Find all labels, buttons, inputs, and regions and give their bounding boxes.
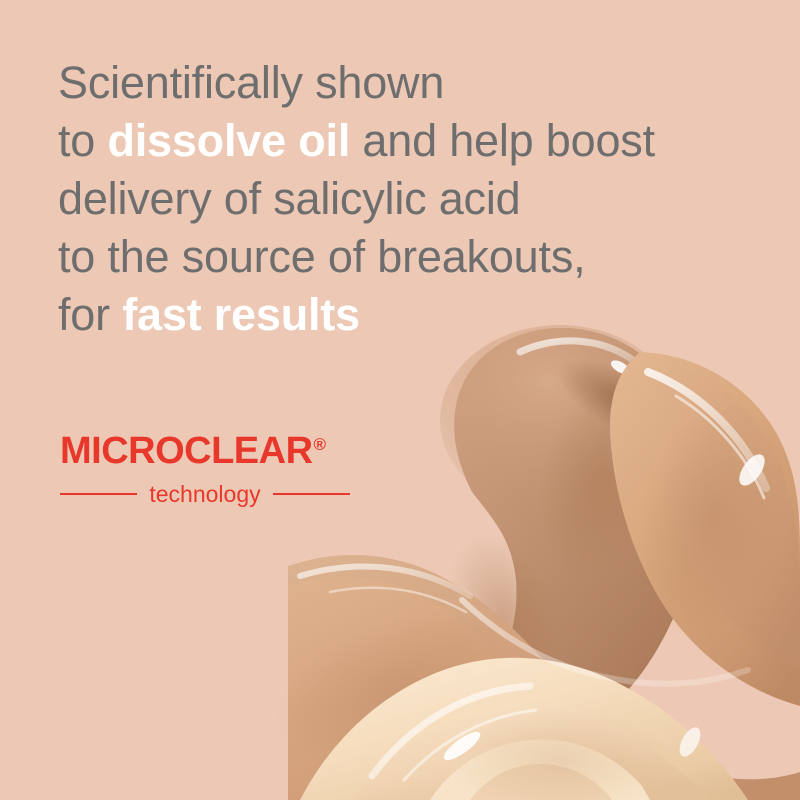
- logo-wordmark: MICROCLEAR®: [60, 424, 350, 472]
- swirl-band-dark: [428, 325, 711, 756]
- headline-text: for: [58, 289, 122, 340]
- logo-tagline-row: technology: [60, 481, 350, 507]
- headline-line-2: to dissolve oil and help boost: [58, 112, 778, 170]
- tagline-rule-right: [273, 493, 350, 495]
- headline-text: and help boost: [350, 115, 655, 166]
- tagline-rule-left: [60, 493, 137, 495]
- registered-trademark-icon: ®: [314, 435, 326, 454]
- headline-text: delivery of salicylic acid: [58, 173, 520, 224]
- headline-block: Scientifically shown to dissolve oil and…: [58, 54, 778, 344]
- headline-line-3: delivery of salicylic acid: [58, 170, 778, 228]
- logo-word-clear: CLEAR: [184, 430, 312, 472]
- headline-line-4: to the source of breakouts,: [58, 228, 778, 286]
- swirl-ridge-connector: [462, 600, 748, 684]
- headline-text: Scientifically shown: [58, 57, 444, 108]
- microclear-logo-lockup: MICROCLEAR® technology: [60, 424, 350, 507]
- headline-line-1: Scientifically shown: [58, 54, 778, 112]
- headline-text: to the source of breakouts,: [58, 231, 585, 282]
- swirl-band-left-arm: [255, 555, 800, 800]
- headline-emphasis-dissolve-oil: dissolve oil: [107, 115, 350, 166]
- headline-text: to: [58, 115, 107, 166]
- swirl-band-mid: [610, 352, 800, 706]
- logo-tagline: technology: [137, 481, 272, 507]
- headline-emphasis-fast-results: fast results: [122, 289, 360, 340]
- product-claim-card: Scientifically shown to dissolve oil and…: [0, 0, 800, 800]
- logo-word-micro: MICRO: [60, 430, 184, 472]
- headline-line-5: for fast results: [58, 286, 778, 344]
- swirl-band-pale: [300, 658, 748, 800]
